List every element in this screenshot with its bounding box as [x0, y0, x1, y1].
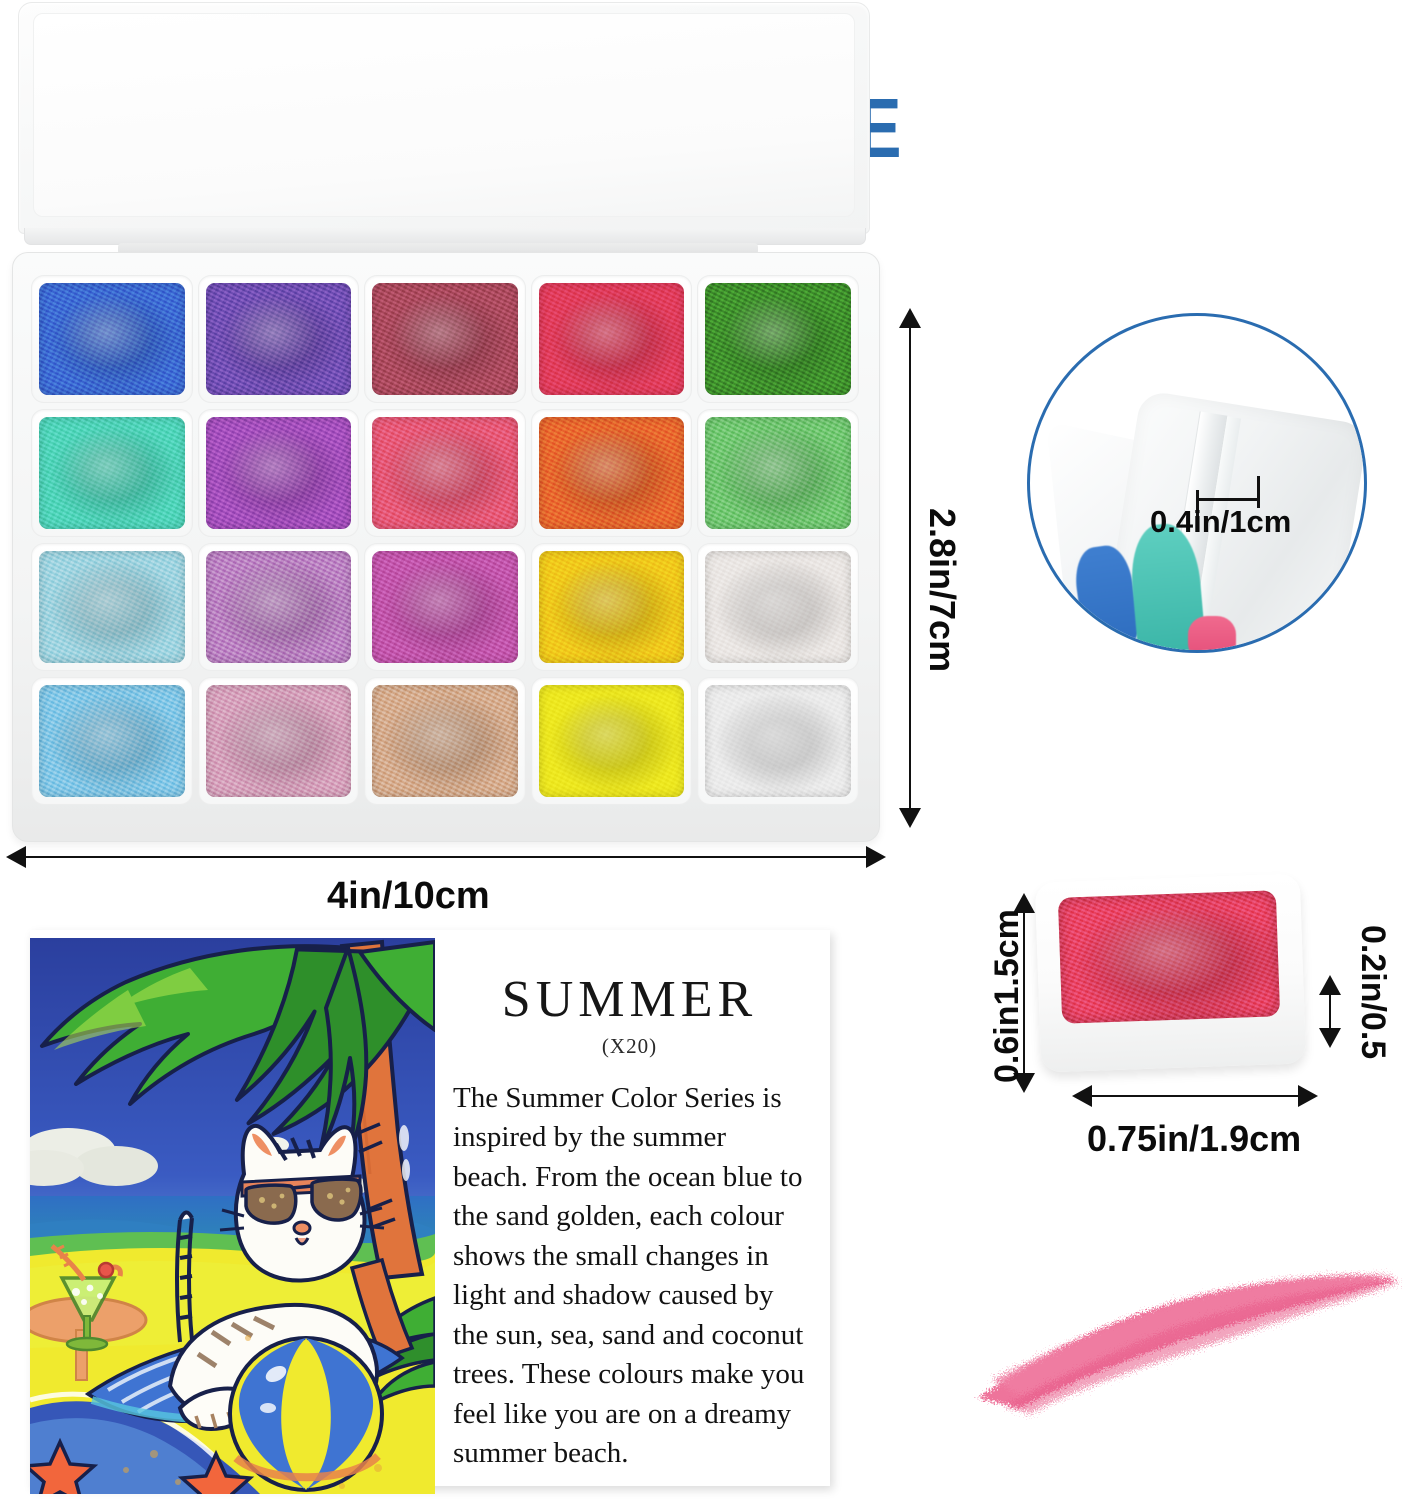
- paint-pan-sunset-orange: [531, 409, 693, 537]
- paint-pan-ocean-blue: [31, 275, 193, 403]
- paint-swatch-pearl-ivory: [705, 551, 851, 663]
- width-dimension-label: 4in/10cm: [327, 875, 490, 918]
- lid-thickness-label: 0.4in/1cm: [1150, 504, 1291, 540]
- palette-tray: [12, 252, 880, 842]
- paint-pan-rose-wine: [364, 275, 526, 403]
- summer-count: (X20): [453, 1034, 806, 1059]
- paint-pan-orchid-purple: [198, 409, 360, 537]
- pan-depth-dimension-label: 0.2in/0.5: [1353, 925, 1392, 1059]
- paint-swatch-sky-blue: [39, 551, 185, 663]
- paint-swatch-orchid-purple: [206, 417, 352, 529]
- paint-swatch-magenta: [372, 551, 518, 663]
- paint-swatch-ocean-blue: [39, 283, 185, 395]
- paint-pan-watermelon-pink: [364, 409, 526, 537]
- single-pan-paint: [1058, 890, 1280, 1024]
- illustration-svg: [30, 938, 435, 1494]
- paint-swatch-light-blue: [39, 685, 185, 797]
- paint-swatch-lilac: [206, 551, 352, 663]
- pan-height-dimension-label: 0.6in1.5cm: [988, 909, 1027, 1083]
- summer-info-card: SUMMER (X20) The Summer Color Series is …: [30, 930, 830, 1486]
- height-dimension-label: 2.8in/7cm: [921, 508, 963, 672]
- paint-swatch-sand-golden: [539, 551, 685, 663]
- beach-ball: [230, 1338, 382, 1490]
- paint-pan-magenta: [364, 543, 526, 671]
- paint-swatch-palm-green: [705, 283, 851, 395]
- infographic-canvas: PRODUCT SIZE 2.8in/7cm 4in/10cm: [0, 0, 1426, 1500]
- paint-pan-sky-blue: [31, 543, 193, 671]
- lid-thickness-zoom-inset: 0.4in/1cm: [1027, 313, 1367, 653]
- paint-swatch-watermelon-pink: [372, 417, 518, 529]
- paint-pan-light-blue: [31, 677, 193, 805]
- paint-pan-sand-golden: [531, 543, 693, 671]
- paint-pan-pearl-white: [697, 677, 859, 805]
- paint-pan-grid: [31, 275, 859, 805]
- paint-pan-dusty-pink: [198, 677, 360, 805]
- single-pan-detail: [1038, 878, 1303, 1078]
- paint-swatch-violet: [206, 283, 352, 395]
- paint-pan-pearl-ivory: [697, 543, 859, 671]
- paint-pan-lilac: [198, 543, 360, 671]
- summer-description: The Summer Color Series is inspired by t…: [453, 1079, 806, 1473]
- paint-pan-violet: [198, 275, 360, 403]
- pink-swatch-stroke: [960, 1230, 1410, 1450]
- pan-width-dimension-label: 0.75in/1.9cm: [1087, 1118, 1301, 1160]
- inset-measure-bar: [1196, 498, 1260, 501]
- inset-pink-pan: [1188, 616, 1236, 653]
- paint-swatch-coral-red: [539, 283, 685, 395]
- paint-swatch-lemon-yellow: [539, 685, 685, 797]
- paint-pan-sand-beige: [364, 677, 526, 805]
- paint-swatch-sand-beige: [372, 685, 518, 797]
- paint-swatch-dusty-pink: [206, 685, 352, 797]
- paint-swatch-rose-wine: [372, 283, 518, 395]
- palette-lid: [18, 2, 870, 234]
- palette-lid-inner-panel: [33, 13, 855, 217]
- paint-swatch-mint-green: [705, 417, 851, 529]
- palette-box: [8, 0, 888, 860]
- summer-title: SUMMER: [453, 974, 806, 1026]
- paint-pan-coral-red: [531, 275, 693, 403]
- paint-swatch-turquoise: [39, 417, 185, 529]
- paint-pan-mint-green: [697, 409, 859, 537]
- paint-swatch-sunset-orange: [539, 417, 685, 529]
- swatch-svg: [960, 1230, 1410, 1450]
- paint-pan-turquoise: [31, 409, 193, 537]
- paint-swatch-pearl-white: [705, 685, 851, 797]
- paint-pan-lemon-yellow: [531, 677, 693, 805]
- paint-pan-palm-green: [697, 275, 859, 403]
- summer-text-panel: SUMMER (X20) The Summer Color Series is …: [435, 930, 830, 1486]
- summer-beach-illustration: [30, 938, 435, 1494]
